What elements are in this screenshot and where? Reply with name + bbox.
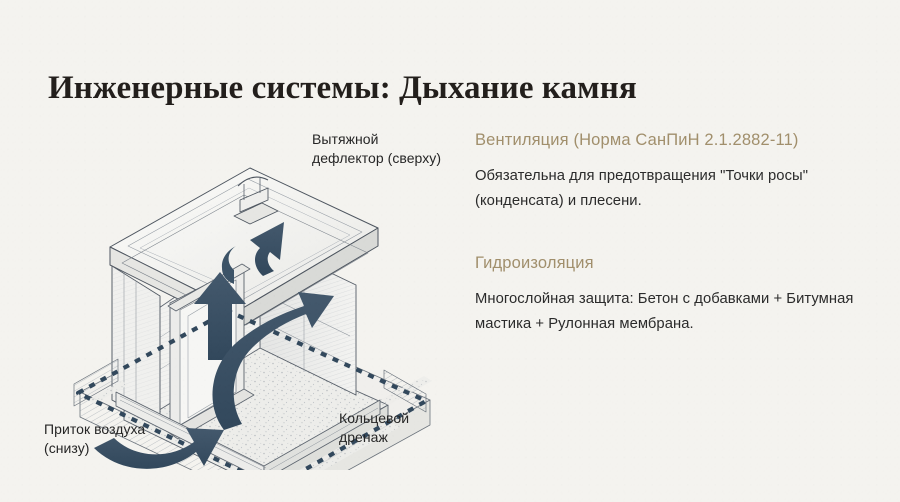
text-column: Вентиляция (Норма СанПиН 2.1.2882-11) Об… bbox=[475, 129, 867, 337]
slide-root: Инженерные системы: Дыхание камня bbox=[0, 0, 900, 502]
section-body-waterproofing: Многослойная защита: Бетон с добавками +… bbox=[475, 287, 867, 337]
callout-label-air-inflow: Приток воздуха (снизу) bbox=[44, 420, 145, 458]
section-heading-waterproofing: Гидроизоляция bbox=[475, 252, 867, 274]
section-waterproofing: Гидроизоляция Многослойная защита: Бетон… bbox=[475, 252, 867, 337]
section-ventilation: Вентиляция (Норма СанПиН 2.1.2882-11) Об… bbox=[475, 129, 867, 214]
callout-label-deflector: Вытяжной дефлектор (сверху) bbox=[312, 130, 441, 168]
section-heading-ventilation: Вентиляция (Норма СанПиН 2.1.2882-11) bbox=[475, 129, 867, 151]
section-body-ventilation: Обязательна для предотвращения "Точки ро… bbox=[475, 164, 867, 214]
callout-label-ring-drainage: Кольцевой дренаж bbox=[339, 409, 409, 447]
